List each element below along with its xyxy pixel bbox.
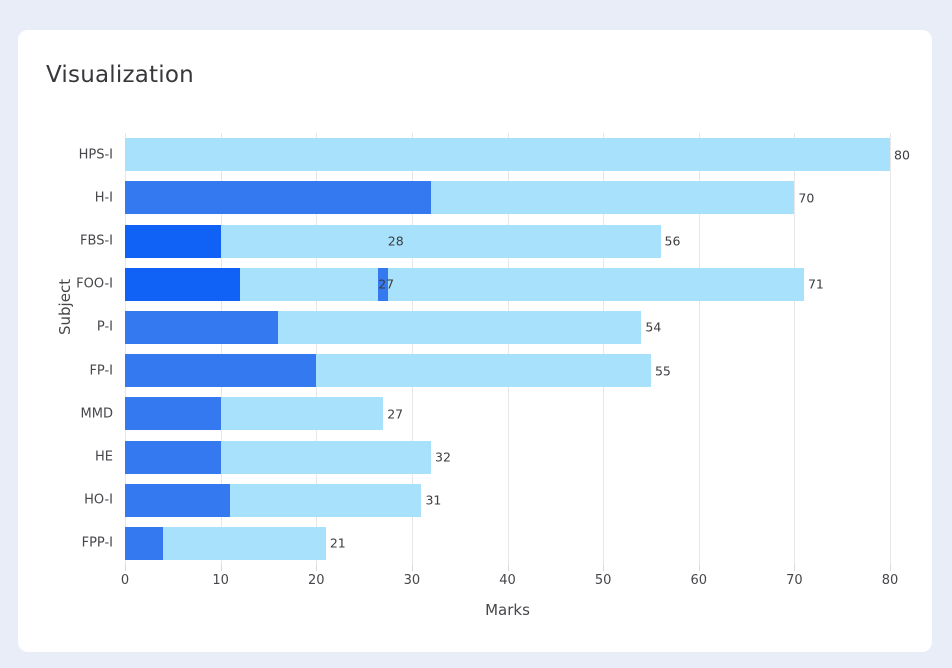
bar-value-label: 56 bbox=[665, 234, 681, 249]
x-tick-label: 40 bbox=[499, 573, 516, 588]
bar-row[interactable]: FBS-I2856 bbox=[125, 225, 890, 258]
x-tick-label: 0 bbox=[121, 573, 129, 588]
bar-segment[interactable] bbox=[125, 181, 431, 214]
x-tick bbox=[699, 565, 700, 571]
bar-value-label: 55 bbox=[655, 363, 671, 378]
bar-segment[interactable] bbox=[221, 225, 661, 258]
gridline bbox=[890, 133, 891, 565]
bar-segment[interactable] bbox=[125, 311, 278, 344]
y-tick-label: FP-I bbox=[89, 363, 113, 378]
bar-row[interactable]: P-I54 bbox=[125, 311, 890, 344]
y-tick-label: FPP-I bbox=[82, 536, 113, 551]
x-tick-label: 20 bbox=[308, 573, 325, 588]
bar-segment[interactable] bbox=[163, 527, 326, 560]
bar-segment[interactable] bbox=[125, 527, 163, 560]
bar-value-label: 80 bbox=[894, 147, 910, 162]
bar-marker-label: 27 bbox=[378, 277, 394, 292]
x-tick bbox=[316, 565, 317, 571]
bar-segment[interactable] bbox=[125, 268, 240, 301]
x-tick bbox=[603, 565, 604, 571]
x-tick bbox=[890, 565, 891, 571]
bar-value-label: 31 bbox=[425, 493, 441, 508]
chart-card: Visualization Subject 01020304050607080 … bbox=[18, 30, 932, 652]
x-tick-label: 10 bbox=[212, 573, 229, 588]
bar-value-label: 32 bbox=[435, 450, 451, 465]
bar-segment[interactable] bbox=[278, 311, 641, 344]
x-tick-label: 30 bbox=[404, 573, 421, 588]
bar-segment[interactable] bbox=[125, 484, 230, 517]
bar-segment[interactable] bbox=[125, 397, 221, 430]
bar-segment[interactable] bbox=[125, 441, 221, 474]
x-tick bbox=[221, 565, 222, 571]
y-tick-label: HO-I bbox=[84, 493, 113, 508]
bar-row[interactable]: HPS-I80 bbox=[125, 138, 890, 171]
x-tick bbox=[508, 565, 509, 571]
bar-value-label: 70 bbox=[798, 190, 814, 205]
bar-segment[interactable] bbox=[230, 484, 421, 517]
bar-row[interactable]: HO-I31 bbox=[125, 484, 890, 517]
bar-marker-label: 28 bbox=[388, 234, 404, 249]
bar-segment[interactable] bbox=[125, 225, 221, 258]
bar-value-label: 71 bbox=[808, 277, 824, 292]
bar-row[interactable]: FP-I55 bbox=[125, 354, 890, 387]
y-tick-label: FOO-I bbox=[76, 277, 113, 292]
bar-segment[interactable] bbox=[316, 354, 651, 387]
bar-value-label: 21 bbox=[330, 536, 346, 551]
bar-row[interactable]: HE32 bbox=[125, 441, 890, 474]
x-tick-label: 60 bbox=[690, 573, 707, 588]
y-tick-label: H-I bbox=[95, 190, 113, 205]
bar-row[interactable]: FPP-I21 bbox=[125, 527, 890, 560]
plot-area: 01020304050607080 HPS-I80H-I70FBS-I2856F… bbox=[125, 133, 890, 565]
bar-row[interactable]: MMD27 bbox=[125, 397, 890, 430]
bar-segment[interactable] bbox=[221, 441, 431, 474]
bar-value-label: 27 bbox=[387, 406, 403, 421]
bar-segment[interactable] bbox=[125, 138, 890, 171]
y-axis-title: Subject bbox=[56, 279, 74, 335]
page-title: Visualization bbox=[46, 62, 194, 88]
x-tick-label: 50 bbox=[595, 573, 612, 588]
x-tick bbox=[412, 565, 413, 571]
y-tick-label: HPS-I bbox=[79, 147, 113, 162]
bar-segment[interactable] bbox=[125, 354, 316, 387]
bar-segment[interactable] bbox=[221, 397, 384, 430]
bar-segment[interactable] bbox=[431, 181, 794, 214]
x-tick bbox=[794, 565, 795, 571]
bar-row[interactable]: H-I70 bbox=[125, 181, 890, 214]
x-tick bbox=[125, 565, 126, 571]
bar-segment[interactable] bbox=[240, 268, 804, 301]
y-tick-label: P-I bbox=[97, 320, 113, 335]
y-tick-label: HE bbox=[95, 450, 113, 465]
bar-row[interactable]: FOO-I2771 bbox=[125, 268, 890, 301]
y-tick-label: MMD bbox=[81, 406, 113, 421]
y-tick-label: FBS-I bbox=[80, 234, 113, 249]
x-tick-label: 80 bbox=[882, 573, 899, 588]
bar-value-label: 54 bbox=[645, 320, 661, 335]
x-tick-label: 70 bbox=[786, 573, 803, 588]
x-axis-title: Marks bbox=[125, 601, 890, 619]
